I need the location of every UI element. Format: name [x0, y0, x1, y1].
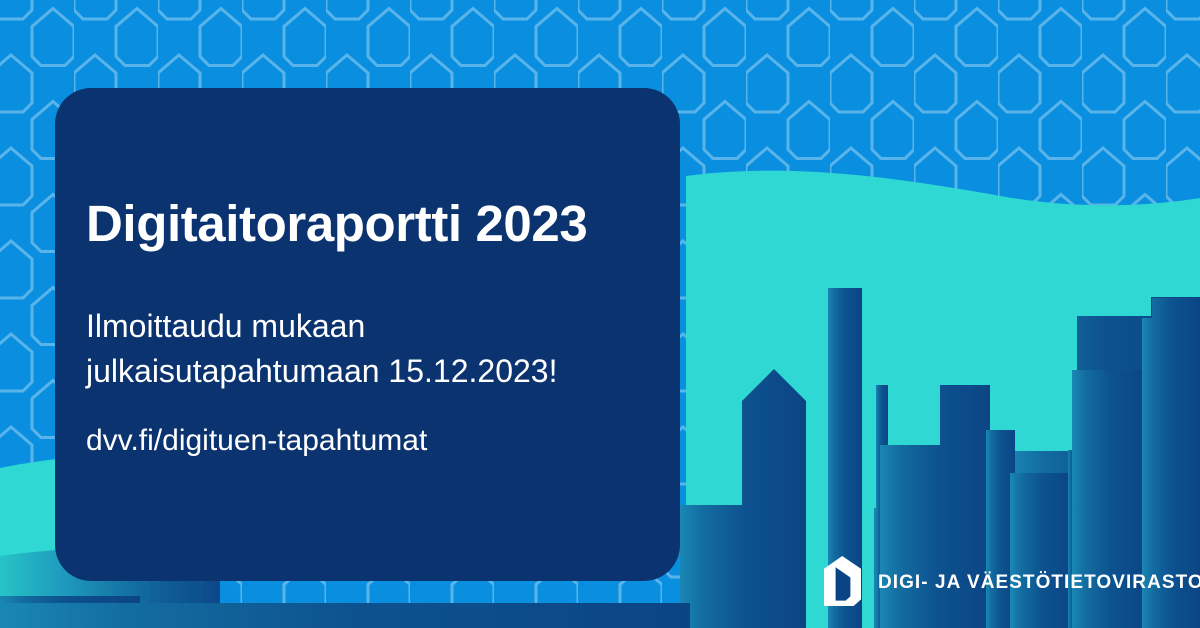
content-card: Digitaitoraportti 2023 Ilmoittaudu mukaa…: [55, 88, 680, 581]
dvv-house-d-logo-icon: [824, 556, 861, 606]
page-title: Digitaitoraportti 2023: [86, 195, 587, 253]
event-url[interactable]: dvv.fi/digituen-tapahtumat: [86, 422, 427, 460]
logo-lockup: DIGI- JA VÄESTÖTIETOVIRASTO: [824, 556, 1200, 606]
event-invite-text: Ilmoittaudu mukaan julkaisutapahtumaan 1…: [86, 304, 557, 394]
marketing-banner: Digitaitoraportti 2023 Ilmoittaudu mukaa…: [0, 0, 1200, 628]
logo-wordmark: DIGI- JA VÄESTÖTIETOVIRASTO: [878, 571, 1200, 592]
